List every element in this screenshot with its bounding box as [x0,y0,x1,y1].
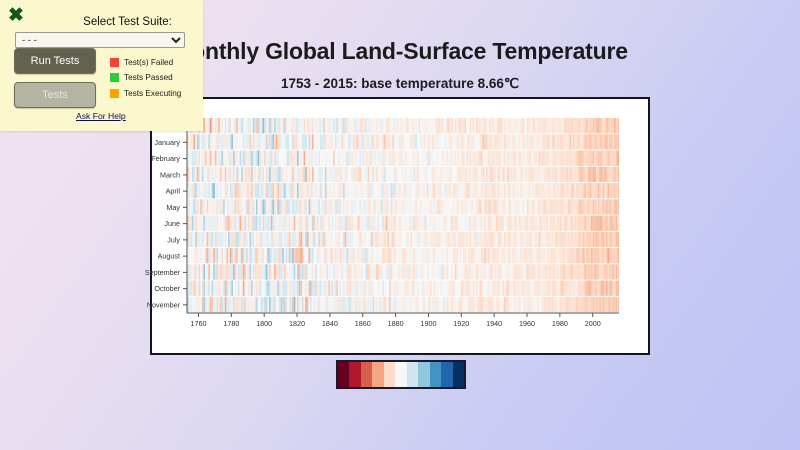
heatmap-cell[interactable] [555,167,557,182]
heatmap-cell[interactable] [453,264,455,279]
heatmap-cell[interactable] [292,199,294,214]
heatmap-cell[interactable] [465,167,467,182]
heatmap-cell[interactable] [274,118,276,133]
heatmap-cell[interactable] [286,118,288,133]
heatmap-cell[interactable] [583,232,585,247]
heatmap-cell[interactable] [376,216,378,231]
heatmap-cell[interactable] [399,151,401,166]
heatmap-cell[interactable] [596,199,598,214]
heatmap-cell[interactable] [241,248,243,263]
heatmap-cell[interactable] [563,134,565,149]
heatmap-cell[interactable] [315,167,317,182]
heatmap-cell[interactable] [189,199,191,214]
heatmap-cell[interactable] [318,199,320,214]
heatmap-cell[interactable] [304,248,306,263]
heatmap-cell[interactable] [548,151,550,166]
heatmap-cell[interactable] [473,281,475,296]
heatmap-cell[interactable] [478,232,480,247]
heatmap-cell[interactable] [535,151,537,166]
heatmap-cell[interactable] [519,264,521,279]
heatmap-cell[interactable] [330,118,332,133]
heatmap-cell[interactable] [478,199,480,214]
heatmap-cell[interactable] [419,183,421,198]
heatmap-cell[interactable] [612,199,614,214]
heatmap-cell[interactable] [447,232,449,247]
heatmap-cell[interactable] [410,232,412,247]
heatmap-cell[interactable] [189,297,191,312]
heatmap-cell[interactable] [540,134,542,149]
heatmap-cell[interactable] [445,134,447,149]
heatmap-cell[interactable] [284,264,286,279]
heatmap-cell[interactable] [197,134,199,149]
heatmap-cell[interactable] [394,134,396,149]
heatmap-cell[interactable] [583,118,585,133]
heatmap-cell[interactable] [386,264,388,279]
heatmap-cell[interactable] [399,248,401,263]
heatmap-cell[interactable] [484,232,486,247]
heatmap-cell[interactable] [282,183,284,198]
heatmap-cell[interactable] [281,232,283,247]
heatmap-cell[interactable] [266,134,268,149]
heatmap-cell[interactable] [606,297,608,312]
heatmap-cell[interactable] [562,264,564,279]
heatmap-cell[interactable] [310,264,312,279]
heatmap-cell[interactable] [323,151,325,166]
heatmap-cell[interactable] [594,232,596,247]
heatmap-cell[interactable] [496,118,498,133]
heatmap-cell[interactable] [284,183,286,198]
heatmap-cell[interactable] [562,167,564,182]
heatmap-cell[interactable] [511,199,513,214]
heatmap-cell[interactable] [493,151,495,166]
heatmap-cell[interactable] [611,281,613,296]
heatmap-cell[interactable] [295,199,297,214]
heatmap-cell[interactable] [230,248,232,263]
heatmap-cell[interactable] [353,134,355,149]
heatmap-cell[interactable] [433,183,435,198]
heatmap-cell[interactable] [235,134,237,149]
heatmap-cell[interactable] [361,216,363,231]
heatmap-cell[interactable] [202,199,204,214]
heatmap-cell[interactable] [261,248,263,263]
heatmap-cell[interactable] [198,199,200,214]
heatmap-cell[interactable] [489,232,491,247]
heatmap-cell[interactable] [333,151,335,166]
heatmap-cell[interactable] [263,281,265,296]
heatmap-cell[interactable] [325,232,327,247]
heatmap-cell[interactable] [340,118,342,133]
heatmap-cell[interactable] [499,297,501,312]
heatmap-cell[interactable] [412,281,414,296]
heatmap-cell[interactable] [198,232,200,247]
heatmap-cell[interactable] [190,248,192,263]
heatmap-cell[interactable] [461,216,463,231]
heatmap-cell[interactable] [323,216,325,231]
heatmap-cell[interactable] [460,134,462,149]
heatmap-cell[interactable] [200,264,202,279]
heatmap-cell[interactable] [417,297,419,312]
heatmap-cell[interactable] [384,297,386,312]
heatmap-cell[interactable] [588,183,590,198]
heatmap-cell[interactable] [374,118,376,133]
heatmap-cell[interactable] [580,199,582,214]
heatmap-cell[interactable] [190,297,192,312]
heatmap-cell[interactable] [474,216,476,231]
run-tests-button[interactable]: Run Tests [14,48,96,74]
heatmap-cell[interactable] [617,248,619,263]
heatmap-cell[interactable] [295,118,297,133]
heatmap-cell[interactable] [313,297,315,312]
heatmap-cell[interactable] [522,134,524,149]
heatmap-cell[interactable] [520,297,522,312]
heatmap-cell[interactable] [371,216,373,231]
heatmap-cell[interactable] [507,248,509,263]
heatmap-cell[interactable] [570,118,572,133]
heatmap-cell[interactable] [603,248,605,263]
heatmap-cell[interactable] [235,183,237,198]
heatmap-cell[interactable] [369,199,371,214]
heatmap-cell[interactable] [253,134,255,149]
heatmap-cell[interactable] [489,151,491,166]
heatmap-cell[interactable] [248,151,250,166]
heatmap-cell[interactable] [534,199,536,214]
heatmap-cell[interactable] [562,248,564,263]
heatmap-cell[interactable] [504,167,506,182]
heatmap-cell[interactable] [532,264,534,279]
heatmap-cell[interactable] [501,248,503,263]
heatmap-cell[interactable] [471,281,473,296]
heatmap-cell[interactable] [415,232,417,247]
heatmap-cell[interactable] [238,183,240,198]
heatmap-cell[interactable] [532,167,534,182]
heatmap-cell[interactable] [598,167,600,182]
heatmap-cell[interactable] [217,216,219,231]
heatmap-cell[interactable] [461,151,463,166]
heatmap-cell[interactable] [589,281,591,296]
heatmap-cell[interactable] [573,151,575,166]
heatmap-cell[interactable] [359,264,361,279]
heatmap-cell[interactable] [565,199,567,214]
heatmap-cell[interactable] [448,199,450,214]
heatmap-cell[interactable] [502,264,504,279]
heatmap-cell[interactable] [272,118,274,133]
heatmap-cell[interactable] [205,281,207,296]
heatmap-cell[interactable] [198,134,200,149]
heatmap-cell[interactable] [603,134,605,149]
heatmap-cell[interactable] [506,264,508,279]
heatmap-cell[interactable] [307,134,309,149]
heatmap-cell[interactable] [519,118,521,133]
heatmap-cell[interactable] [428,232,430,247]
heatmap-cell[interactable] [479,216,481,231]
heatmap-cell[interactable] [601,248,603,263]
heatmap-cell[interactable] [502,134,504,149]
heatmap-cell[interactable] [578,118,580,133]
heatmap-cell[interactable] [302,216,304,231]
heatmap-cell[interactable] [373,183,375,198]
heatmap-cell[interactable] [397,248,399,263]
heatmap-cell[interactable] [451,151,453,166]
heatmap-cell[interactable] [484,216,486,231]
heatmap-cell[interactable] [532,199,534,214]
heatmap-cell[interactable] [382,281,384,296]
heatmap-cell[interactable] [369,151,371,166]
heatmap-cell[interactable] [470,248,472,263]
heatmap-cell[interactable] [279,134,281,149]
heatmap-cell[interactable] [266,118,268,133]
heatmap-cell[interactable] [447,183,449,198]
heatmap-cell[interactable] [312,199,314,214]
heatmap-cell[interactable] [345,216,347,231]
heatmap-cell[interactable] [323,264,325,279]
heatmap-cell[interactable] [320,167,322,182]
heatmap-cell[interactable] [258,264,260,279]
heatmap-cell[interactable] [463,199,465,214]
heatmap-cell[interactable] [246,118,248,133]
heatmap-cell[interactable] [470,167,472,182]
heatmap-cell[interactable] [415,281,417,296]
heatmap-cell[interactable] [442,167,444,182]
heatmap-cell[interactable] [244,232,246,247]
heatmap-cell[interactable] [315,281,317,296]
heatmap-cell[interactable] [276,151,278,166]
heatmap-cell[interactable] [243,297,245,312]
heatmap-cell[interactable] [276,297,278,312]
heatmap-cell[interactable] [512,199,514,214]
heatmap-cell[interactable] [438,199,440,214]
heatmap-cell[interactable] [366,199,368,214]
heatmap-cell[interactable] [568,167,570,182]
heatmap-cell[interactable] [228,134,230,149]
heatmap-cell[interactable] [601,281,603,296]
heatmap-cell[interactable] [529,216,531,231]
heatmap-cell[interactable] [502,199,504,214]
heatmap-cell[interactable] [267,216,269,231]
heatmap-cell[interactable] [294,248,296,263]
heatmap-cell[interactable] [530,134,532,149]
heatmap-cell[interactable] [251,151,253,166]
heatmap-cell[interactable] [300,199,302,214]
heatmap-cell[interactable] [488,281,490,296]
heatmap-cell[interactable] [282,118,284,133]
heatmap-cell[interactable] [328,281,330,296]
heatmap-cell[interactable] [525,183,527,198]
heatmap-cell[interactable] [361,232,363,247]
heatmap-cell[interactable] [309,264,311,279]
heatmap-cell[interactable] [481,248,483,263]
heatmap-cell[interactable] [553,264,555,279]
heatmap-cell[interactable] [611,232,613,247]
heatmap-cell[interactable] [382,167,384,182]
heatmap-cell[interactable] [502,232,504,247]
heatmap-cell[interactable] [591,118,593,133]
heatmap-cell[interactable] [230,167,232,182]
heatmap-cell[interactable] [387,281,389,296]
heatmap-cell[interactable] [440,151,442,166]
heatmap-cell[interactable] [501,118,503,133]
heatmap-cell[interactable] [455,118,457,133]
heatmap-cell[interactable] [553,134,555,149]
heatmap-cell[interactable] [417,183,419,198]
heatmap-cell[interactable] [389,167,391,182]
heatmap-cell[interactable] [598,134,600,149]
heatmap-cell[interactable] [581,199,583,214]
heatmap-cell[interactable] [593,151,595,166]
heatmap-cell[interactable] [550,199,552,214]
heatmap-cell[interactable] [563,151,565,166]
heatmap-cell[interactable] [586,248,588,263]
heatmap-cell[interactable] [616,118,618,133]
heatmap-cell[interactable] [568,281,570,296]
heatmap-cell[interactable] [450,199,452,214]
heatmap-cell[interactable] [378,183,380,198]
heatmap-cell[interactable] [378,281,380,296]
heatmap-cell[interactable] [537,167,539,182]
heatmap-cell[interactable] [396,199,398,214]
heatmap-cell[interactable] [451,134,453,149]
heatmap-cell[interactable] [535,183,537,198]
heatmap-cell[interactable] [384,118,386,133]
heatmap-cell[interactable] [501,183,503,198]
heatmap-cell[interactable] [391,297,393,312]
heatmap-cell[interactable] [570,167,572,182]
heatmap-cell[interactable] [581,118,583,133]
heatmap-cell[interactable] [318,232,320,247]
heatmap-cell[interactable] [415,216,417,231]
heatmap-cell[interactable] [358,199,360,214]
heatmap-cell[interactable] [313,134,315,149]
heatmap-cell[interactable] [287,264,289,279]
heatmap-cell[interactable] [269,118,271,133]
heatmap-cell[interactable] [473,118,475,133]
heatmap-cell[interactable] [392,118,394,133]
heatmap-cell[interactable] [601,199,603,214]
heatmap-cell[interactable] [276,264,278,279]
heatmap-cell[interactable] [200,199,202,214]
heatmap-cell[interactable] [294,264,296,279]
heatmap-cell[interactable] [325,151,327,166]
heatmap-cell[interactable] [560,151,562,166]
heatmap-cell[interactable] [386,118,388,133]
heatmap-cell[interactable] [323,297,325,312]
heatmap-cell[interactable] [267,134,269,149]
heatmap-cell[interactable] [497,151,499,166]
heatmap-cell[interactable] [212,151,214,166]
heatmap-cell[interactable] [447,297,449,312]
heatmap-cell[interactable] [248,281,250,296]
heatmap-cell[interactable] [539,264,541,279]
heatmap-cell[interactable] [466,199,468,214]
heatmap-cell[interactable] [581,248,583,263]
heatmap-cell[interactable] [333,281,335,296]
heatmap-cell[interactable] [517,297,519,312]
heatmap-cell[interactable] [558,297,560,312]
heatmap-cell[interactable] [348,151,350,166]
heatmap-cell[interactable] [322,216,324,231]
heatmap-cell[interactable] [614,199,616,214]
heatmap-cell[interactable] [340,281,342,296]
heatmap-cell[interactable] [583,281,585,296]
heatmap-cell[interactable] [601,232,603,247]
heatmap-cell[interactable] [599,134,601,149]
heatmap-cell[interactable] [198,264,200,279]
heatmap-cell[interactable] [563,183,565,198]
heatmap-cell[interactable] [335,281,337,296]
heatmap-cell[interactable] [389,232,391,247]
heatmap-cell[interactable] [263,199,265,214]
heatmap-cell[interactable] [287,232,289,247]
heatmap-cell[interactable] [537,216,539,231]
heatmap-cell[interactable] [258,216,260,231]
heatmap-cell[interactable] [317,183,319,198]
heatmap-cell[interactable] [396,264,398,279]
heatmap-cell[interactable] [338,118,340,133]
heatmap-cell[interactable] [575,151,577,166]
heatmap-cell[interactable] [272,216,274,231]
heatmap-cell[interactable] [322,248,324,263]
heatmap-cell[interactable] [305,199,307,214]
heatmap-cell[interactable] [499,199,501,214]
heatmap-cell[interactable] [340,151,342,166]
heatmap-cell[interactable] [248,199,250,214]
heatmap-cell[interactable] [274,167,276,182]
heatmap-cell[interactable] [547,183,549,198]
heatmap-cell[interactable] [205,232,207,247]
heatmap-cell[interactable] [282,281,284,296]
heatmap-cell[interactable] [256,281,258,296]
heatmap-cell[interactable] [350,248,352,263]
heatmap-cell[interactable] [307,199,309,214]
heatmap-cell[interactable] [392,151,394,166]
heatmap-cell[interactable] [356,281,358,296]
heatmap-cell[interactable] [443,264,445,279]
heatmap-cell[interactable] [230,151,232,166]
heatmap-cell[interactable] [378,264,380,279]
heatmap-cell[interactable] [435,118,437,133]
heatmap-cell[interactable] [332,151,334,166]
heatmap-cell[interactable] [428,216,430,231]
heatmap-cell[interactable] [445,151,447,166]
heatmap-cell[interactable] [534,297,536,312]
heatmap-cell[interactable] [366,232,368,247]
heatmap-cell[interactable] [407,151,409,166]
heatmap-cell[interactable] [292,134,294,149]
heatmap-cell[interactable] [512,151,514,166]
heatmap-cell[interactable] [606,167,608,182]
heatmap-cell[interactable] [221,264,223,279]
heatmap-cell[interactable] [571,199,573,214]
heatmap-cell[interactable] [599,232,601,247]
heatmap-cell[interactable] [494,281,496,296]
heatmap-cell[interactable] [430,297,432,312]
heatmap-cell[interactable] [238,134,240,149]
heatmap-cell[interactable] [310,183,312,198]
heatmap-cell[interactable] [598,118,600,133]
heatmap-cell[interactable] [530,199,532,214]
heatmap-cell[interactable] [616,199,618,214]
heatmap-cell[interactable] [399,297,401,312]
heatmap-cell[interactable] [391,281,393,296]
heatmap-cell[interactable] [596,232,598,247]
heatmap-cell[interactable] [320,216,322,231]
heatmap-cell[interactable] [573,183,575,198]
heatmap-cell[interactable] [263,248,265,263]
heatmap-cell[interactable] [312,118,314,133]
heatmap-cell[interactable] [338,183,340,198]
heatmap-cell[interactable] [381,216,383,231]
heatmap-cell[interactable] [256,199,258,214]
heatmap-cell[interactable] [407,281,409,296]
